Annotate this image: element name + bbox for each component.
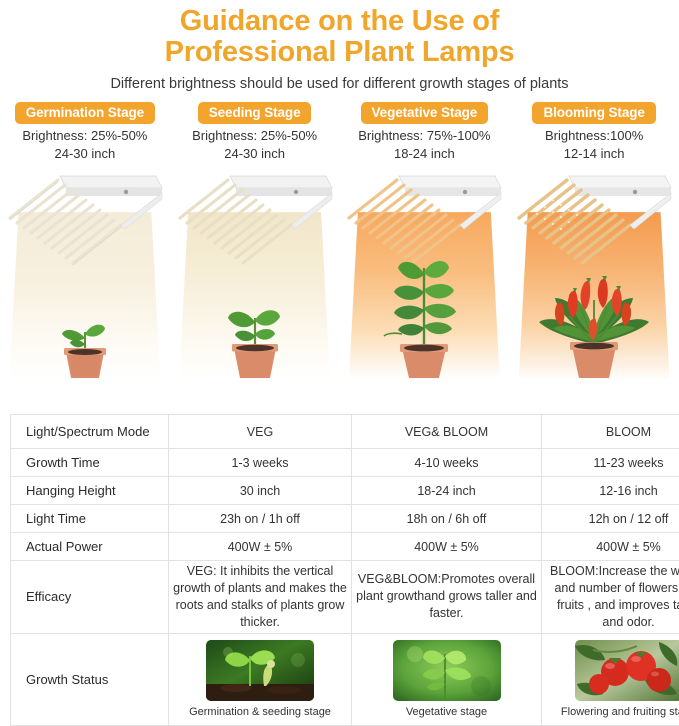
stage-distance-blooming: 12-14 inch	[509, 146, 679, 162]
row-label-light-time: Light Time	[11, 505, 169, 533]
stage-panel-vegetative: Vegetative Stage Brightness: 75%-100% 18…	[340, 102, 510, 381]
cell-light-vegbloom: 18h on / 6h off	[352, 505, 542, 533]
stage-illustration-seeding	[170, 168, 340, 380]
cell-light-veg: 23h on / 1h off	[169, 505, 352, 533]
stage-distance-seeding: 24-30 inch	[170, 146, 340, 162]
cell-mode-vegbloom: VEG& BLOOM	[352, 415, 542, 449]
cell-status-flowering: Flowering and fruiting stage	[542, 633, 679, 725]
stage-panel-germination: Germination Stage Brightness: 25%-50% 24…	[0, 102, 170, 381]
caption-germination: Germination & seeding stage	[189, 706, 331, 718]
plant-leafy	[372, 248, 476, 380]
cell-height-veg: 30 inch	[169, 477, 352, 505]
stage-illustration-blooming	[509, 168, 679, 380]
stage-brightness-vegetative: Brightness: 75%-100%	[340, 128, 510, 144]
table-row-hanging-height: Hanging Height 30 inch 18-24 inch 12-16 …	[11, 477, 679, 505]
cell-efficacy-veg: VEG: It inhibits the vertical growth of …	[169, 561, 352, 634]
cell-power-bloom: 400W ± 5%	[542, 533, 679, 561]
cell-light-bloom: 12h on / 12 off	[542, 505, 679, 533]
row-label-efficacy: Efficacy	[11, 561, 169, 634]
stage-badge-blooming: Blooming Stage	[532, 102, 655, 124]
cell-time-bloom: 11-23 weeks	[542, 449, 679, 477]
stage-badge-seeding: Seeding Stage	[198, 102, 312, 124]
plant-pepper	[519, 248, 669, 380]
stage-distance-germination: 24-30 inch	[0, 146, 170, 162]
spec-table: Light/Spectrum Mode VEG VEG& BLOOM BLOOM…	[10, 414, 679, 726]
table-row-growth-status: Growth Status	[11, 633, 679, 725]
row-label-growth-time: Growth Time	[11, 449, 169, 477]
row-label-mode: Light/Spectrum Mode	[11, 415, 169, 449]
stage-illustration-vegetative	[340, 168, 510, 380]
cell-time-veg: 1-3 weeks	[169, 449, 352, 477]
cell-power-veg: 400W ± 5%	[169, 533, 352, 561]
page-title: Guidance on the Use of Professional Plan…	[0, 6, 679, 69]
stage-badge-germination: Germination Stage	[15, 102, 155, 124]
photo-sprout	[206, 640, 314, 701]
stage-brightness-germination: Brightness: 25%-50%	[0, 128, 170, 144]
row-label-actual-power: Actual Power	[11, 533, 169, 561]
cell-mode-bloom: BLOOM	[542, 415, 679, 449]
cell-mode-veg: VEG	[169, 415, 352, 449]
stage-badge-vegetative: Vegetative Stage	[361, 102, 489, 124]
table-row-light-time: Light Time 23h on / 1h off 18h on / 6h o…	[11, 505, 679, 533]
caption-vegetative: Vegetative stage	[406, 706, 487, 718]
table-row-efficacy: Efficacy VEG: It inhibits the vertical g…	[11, 561, 679, 634]
row-label-growth-status: Growth Status	[11, 633, 169, 725]
cell-status-germination: Germination & seeding stage	[169, 633, 352, 725]
caption-flowering: Flowering and fruiting stage	[561, 706, 679, 718]
title-line-1: Guidance on the Use of	[0, 6, 679, 37]
page-header: Guidance on the Use of Professional Plan…	[0, 0, 679, 92]
page-subtitle: Different brightness should be used for …	[0, 76, 679, 92]
stage-illustration-germination	[0, 168, 170, 380]
stage-panel-seeding: Seeding Stage Brightness: 25%-50% 24-30 …	[170, 102, 340, 381]
row-label-hanging-height: Hanging Height	[11, 477, 169, 505]
plant-seedling-medium	[212, 288, 298, 380]
table-row-mode: Light/Spectrum Mode VEG VEG& BLOOM BLOOM	[11, 415, 679, 449]
cell-status-vegetative: Vegetative stage	[352, 633, 542, 725]
stage-brightness-seeding: Brightness: 25%-50%	[170, 128, 340, 144]
cell-efficacy-vegbloom: VEG&BLOOM:Promotes overall plant growtha…	[352, 561, 542, 634]
title-line-2: Professional Plant Lamps	[0, 37, 679, 68]
stage-panels: Germination Stage Brightness: 25%-50% 24…	[0, 102, 679, 381]
photo-tomatoes	[575, 640, 679, 701]
cell-height-bloom: 12-16 inch	[542, 477, 679, 505]
cell-height-vegbloom: 18-24 inch	[352, 477, 542, 505]
spec-table-wrapper: Light/Spectrum Mode VEG VEG& BLOOM BLOOM…	[10, 414, 668, 726]
cell-power-vegbloom: 400W ± 5%	[352, 533, 542, 561]
table-row-actual-power: Actual Power 400W ± 5% 400W ± 5% 400W ± …	[11, 533, 679, 561]
stage-distance-vegetative: 18-24 inch	[340, 146, 510, 162]
stage-panel-blooming: Blooming Stage Brightness:100% 12-14 inc…	[509, 102, 679, 381]
stage-brightness-blooming: Brightness:100%	[509, 128, 679, 144]
photo-seedling	[393, 640, 501, 701]
grow-light-panel-icon	[174, 172, 336, 268]
table-row-growth-time: Growth Time 1-3 weeks 4-10 weeks 11-23 w…	[11, 449, 679, 477]
cell-time-vegbloom: 4-10 weeks	[352, 449, 542, 477]
grow-light-panel-icon	[4, 172, 166, 268]
plant-seedling-small	[46, 298, 124, 380]
cell-efficacy-bloom: BLOOM:Increase the weight and number of …	[542, 561, 679, 634]
